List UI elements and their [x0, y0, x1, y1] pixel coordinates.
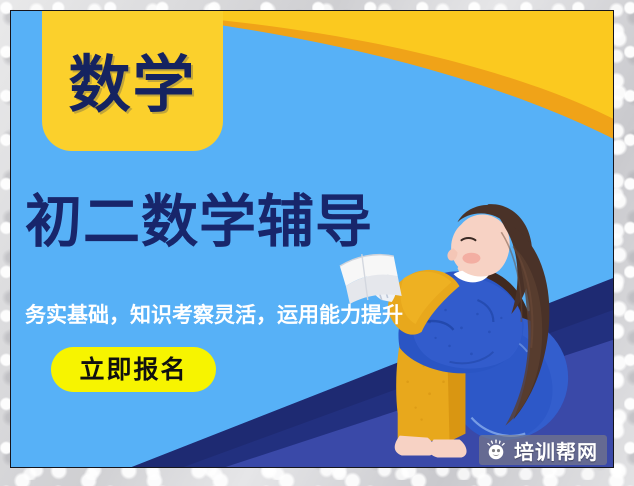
subtitle-text: 务实基础，知识考察灵活，运用能力提升	[25, 305, 403, 326]
enroll-now-button-label: 立即报名	[79, 357, 187, 382]
watermark: 培训帮网	[479, 435, 607, 465]
enroll-now-button[interactable]: 立即报名	[51, 347, 216, 392]
subject-badge: 数学	[42, 10, 223, 151]
page-backdrop: 数学 初二数学辅导 务实基础，知识考察灵活，运用能力提升 立即报名	[0, 0, 634, 486]
subject-badge-label: 数学	[68, 44, 196, 116]
sun-face-icon	[485, 439, 507, 461]
watermark-text: 培训帮网	[514, 436, 598, 465]
course-promo-banner: 数学 初二数学辅导 务实基础，知识考察灵活，运用能力提升 立即报名	[10, 10, 614, 468]
page-title: 初二数学辅导	[25, 194, 373, 251]
